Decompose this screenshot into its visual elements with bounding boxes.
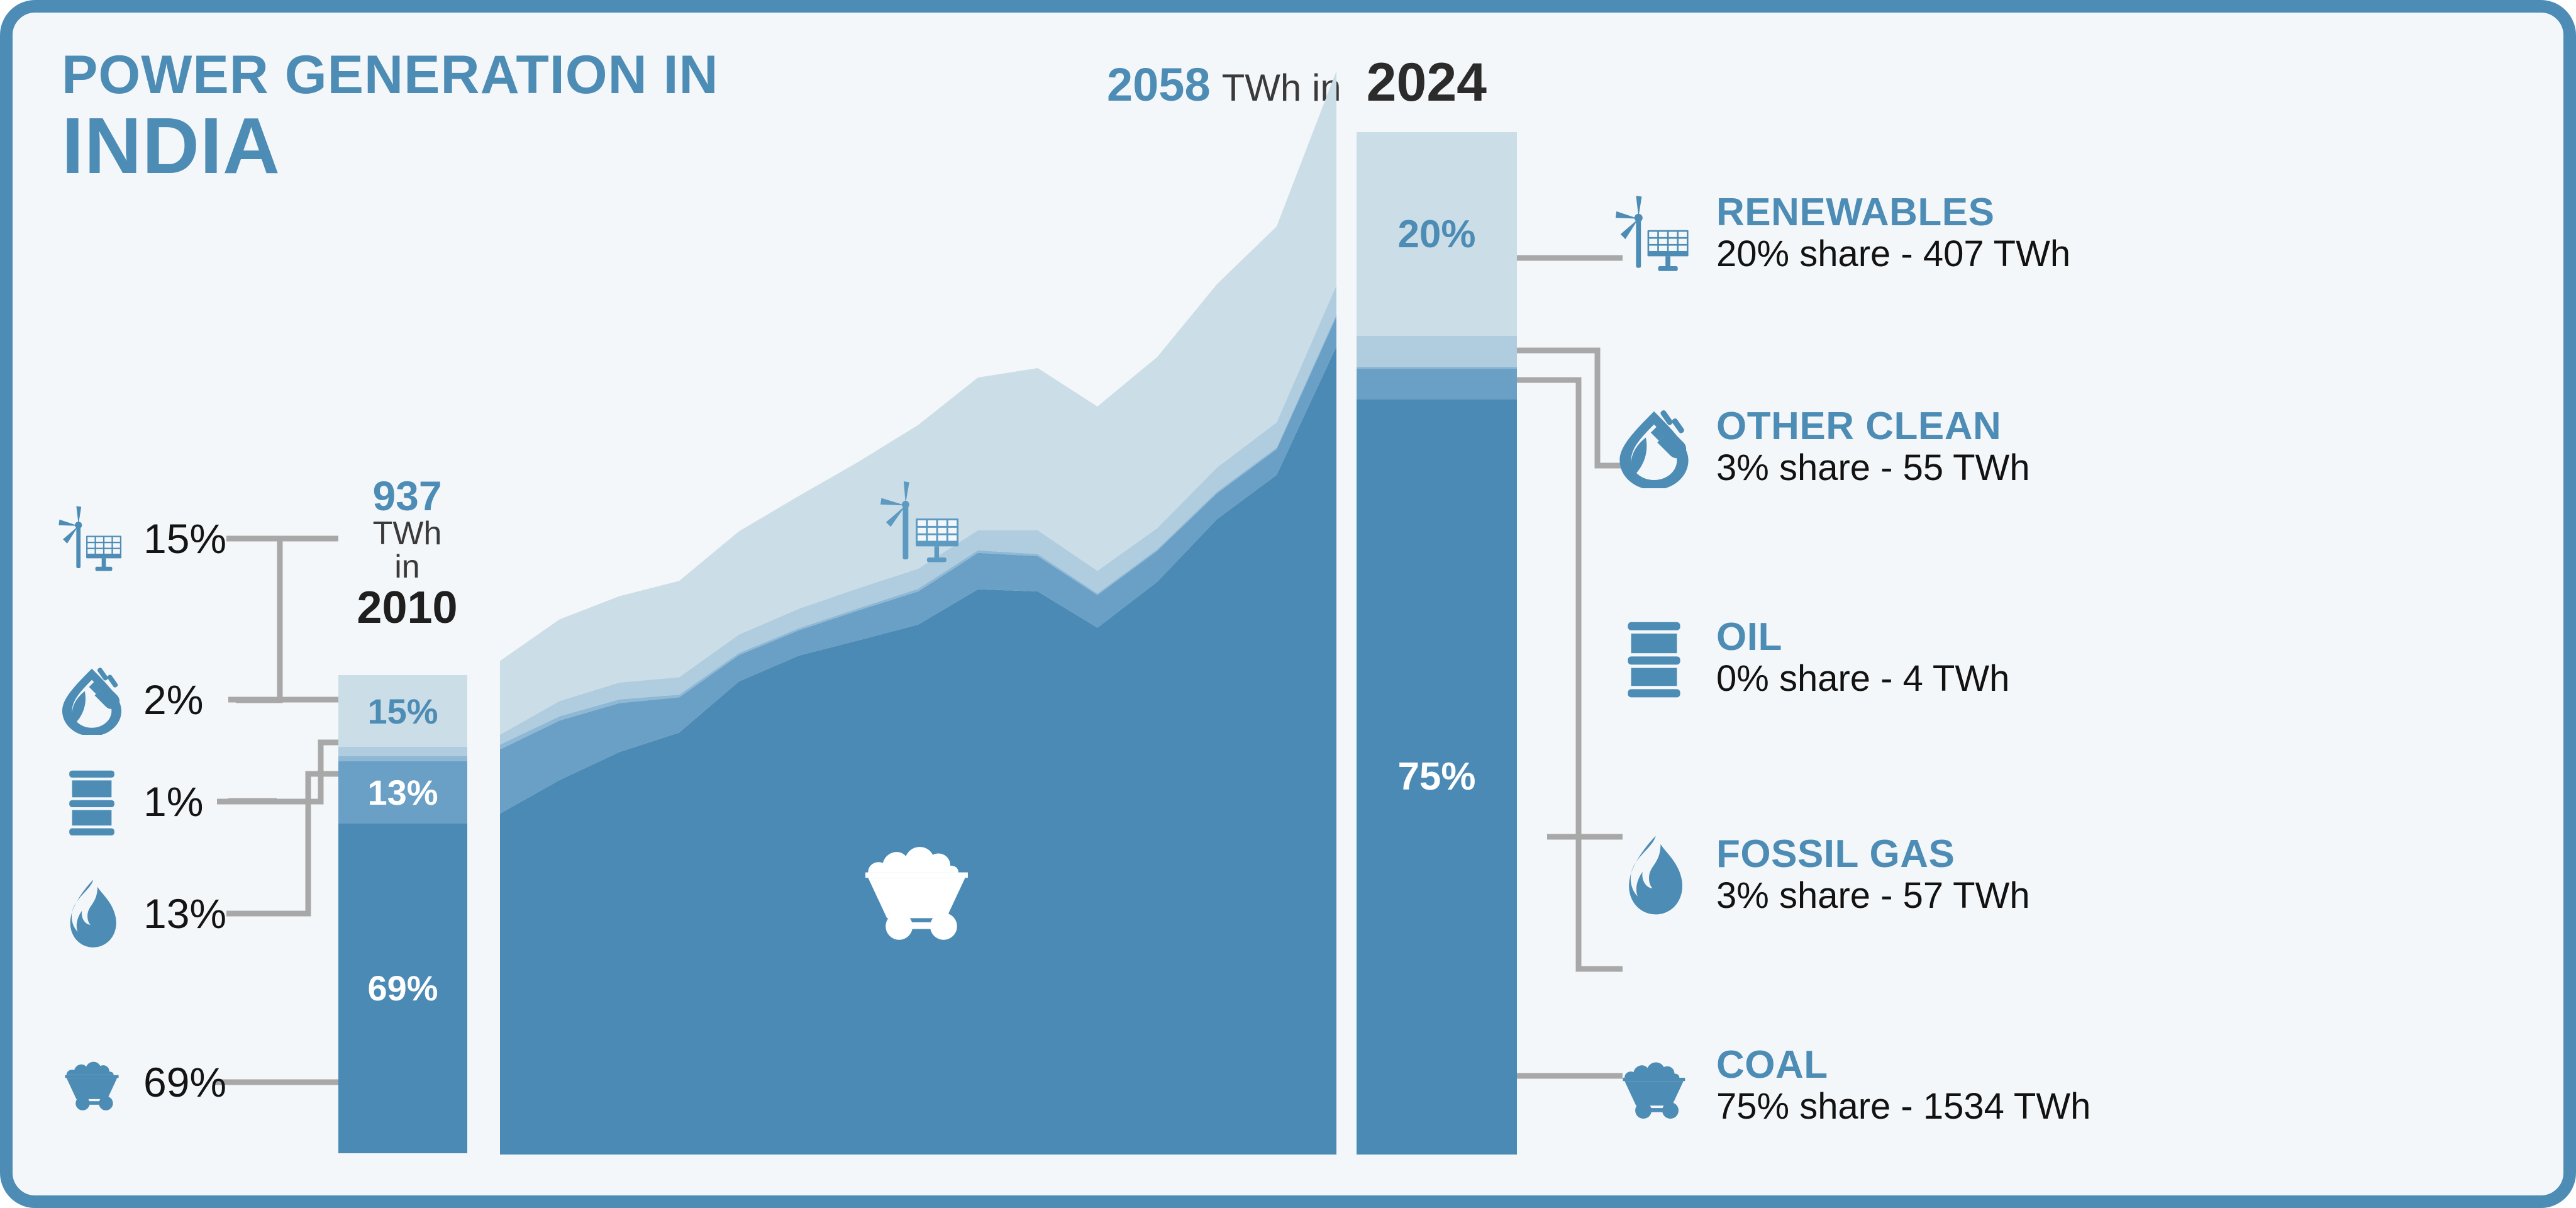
bar-segment-label-coal: 69%	[338, 968, 467, 1009]
legend-sub: 3% share - 57 TWh	[1716, 876, 2030, 917]
bar-segment-oil	[338, 756, 467, 761]
wind-solar-icon	[1613, 193, 1695, 274]
bar-segment-coal: 69%	[338, 824, 467, 1153]
total-2010-value: 937	[343, 475, 472, 517]
year-2024-label: 2024	[1367, 52, 1487, 114]
legend-text: FOSSIL GAS 3% share - 57 TWh	[1716, 834, 2030, 917]
bar-segment-other_clean	[1357, 336, 1517, 367]
left-label-pct: 13%	[143, 890, 226, 937]
left-label-fossil-gas: 13%	[57, 878, 226, 949]
total-2010-header: 937 TWh in 2010	[343, 475, 472, 632]
total-2010-unit: TWh	[343, 517, 472, 551]
legend-text: OIL 0% share - 4 TWh	[1716, 617, 2009, 700]
wind-solar-icon	[57, 503, 127, 574]
legend-name: FOSSIL GAS	[1716, 834, 2030, 876]
legend-sub: 0% share - 4 TWh	[1716, 659, 2009, 700]
legend-text: OTHER CLEAN 3% share - 55 TWh	[1716, 406, 2030, 489]
left-label-coal: 69%	[57, 1047, 226, 1117]
infographic-card: POWER GENERATION IN INDIA 2058 TWh in 20…	[0, 0, 2576, 1208]
legend-item-coal[interactable]: COAL 75% share - 1534 TWh	[1613, 1044, 2090, 1127]
coal-cart-icon	[849, 829, 984, 942]
area-chart-svg	[500, 38, 1336, 1155]
stacked-area-chart	[500, 38, 1336, 1155]
bar-segment-label-fossil_gas: 13%	[338, 772, 467, 813]
bar-segment-coal: 75%	[1357, 400, 1517, 1155]
bar-2010: 15%13%69%	[338, 675, 467, 1153]
coal-cart-icon	[57, 1047, 127, 1117]
legend-item-other-clean[interactable]: OTHER CLEAN 3% share - 55 TWh	[1613, 406, 2030, 489]
bar-segment-renewables: 15%	[338, 675, 467, 747]
bar-2024: 20%75%	[1357, 132, 1517, 1155]
coal-cart-icon	[1613, 1045, 1695, 1127]
legend-item-oil[interactable]: OIL 0% share - 4 TWh	[1613, 617, 2009, 700]
bar-segment-label-renewables: 20%	[1357, 212, 1517, 257]
left-label-oil: 1%	[57, 766, 203, 837]
oil-barrel-icon	[57, 766, 127, 837]
bar-segment-fossil_gas: 13%	[338, 761, 467, 824]
legend-item-renewables[interactable]: RENEWABLES 20% share - 407 TWh	[1613, 192, 2070, 275]
left-label-pct: 1%	[143, 778, 203, 825]
flame-icon	[57, 878, 127, 949]
legend-sub: 3% share - 55 TWh	[1716, 448, 2030, 489]
legend-sub: 75% share - 1534 TWh	[1716, 1087, 2090, 1127]
bar-segment-label-renewables: 15%	[338, 691, 467, 732]
legend-name: COAL	[1716, 1044, 2090, 1087]
left-label-other-clean: 2%	[57, 664, 203, 735]
oil-barrel-icon	[1613, 617, 1695, 699]
left-label-pct: 15%	[143, 515, 226, 562]
legend-name: OIL	[1716, 617, 2009, 659]
legend-name: OTHER CLEAN	[1716, 406, 2030, 448]
year-2010-label: 2010	[343, 585, 472, 631]
legend-text: COAL 75% share - 1534 TWh	[1716, 1044, 2090, 1127]
left-label-pct: 2%	[143, 676, 203, 724]
plug-leaf-icon	[1613, 406, 1695, 488]
legend-sub: 20% share - 407 TWh	[1716, 234, 2070, 275]
bar-segment-renewables: 20%	[1357, 132, 1517, 336]
flame-icon	[1613, 834, 1695, 916]
left-label-pct: 69%	[143, 1058, 226, 1106]
total-2010-in: in	[343, 551, 472, 584]
left-label-renewables: 15%	[57, 503, 226, 574]
bar-segment-fossil_gas	[1357, 369, 1517, 400]
legend-name: RENEWABLES	[1716, 192, 2070, 234]
legend-text: RENEWABLES 20% share - 407 TWh	[1716, 192, 2070, 275]
legend-item-fossil-gas[interactable]: FOSSIL GAS 3% share - 57 TWh	[1613, 834, 2030, 917]
bar-segment-other_clean	[338, 747, 467, 756]
bar-segment-label-coal: 75%	[1357, 754, 1517, 799]
plug-leaf-icon	[57, 664, 127, 735]
wind-solar-icon	[874, 481, 969, 563]
